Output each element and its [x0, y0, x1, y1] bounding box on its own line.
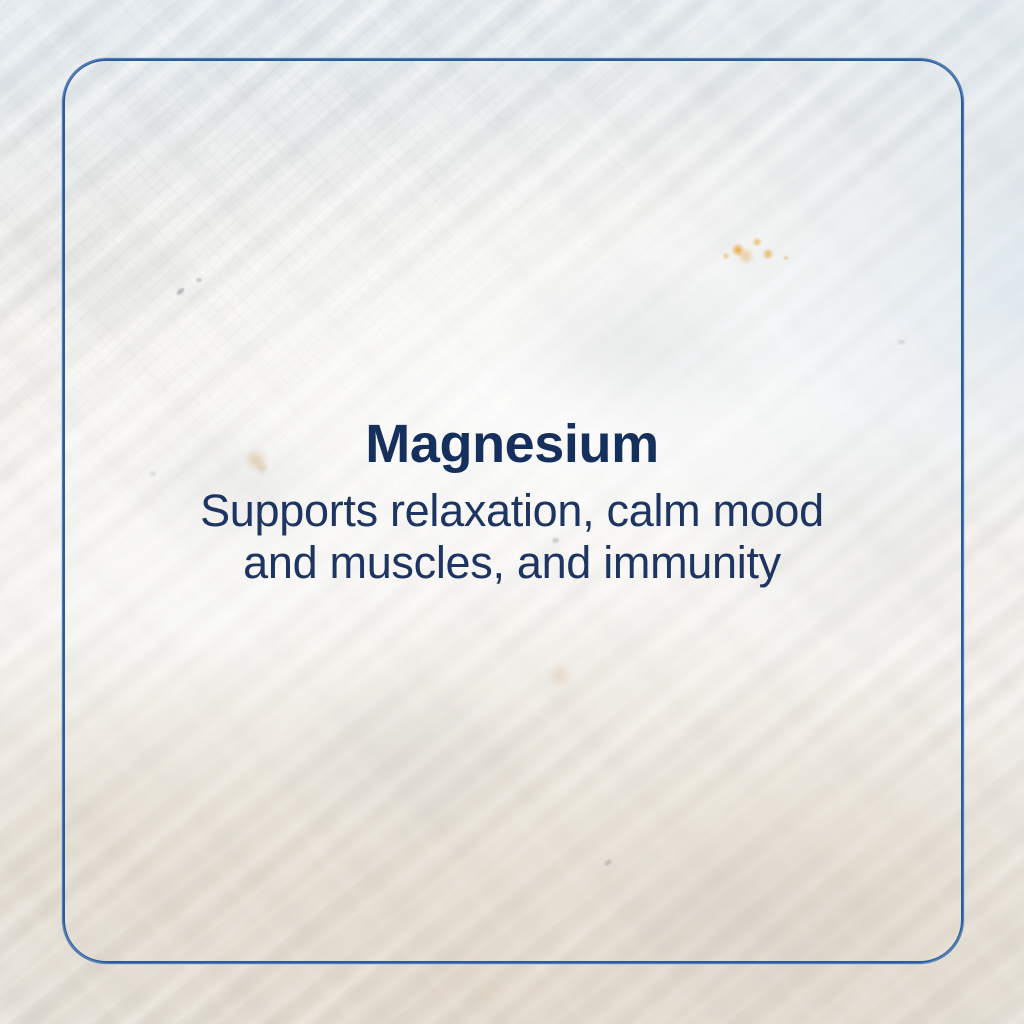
ingredient-benefit-subtitle: Supports relaxation, calm mood and muscl…: [0, 485, 1024, 589]
text-content-block: Magnesium Supports relaxation, calm mood…: [0, 414, 1024, 589]
subtitle-line-2: and muscles, and immunity: [0, 537, 1024, 589]
ingredient-benefit-card: Magnesium Supports relaxation, calm mood…: [0, 0, 1024, 1024]
subtitle-line-1: Supports relaxation, calm mood: [0, 485, 1024, 537]
ingredient-title: Magnesium: [0, 414, 1024, 474]
